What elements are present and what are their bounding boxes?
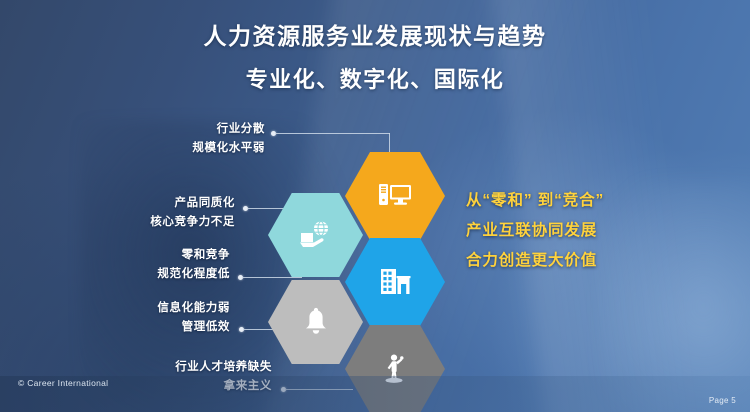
issue-label-industry-fragmentation: 行业分散 规模化水平弱 xyxy=(60,120,265,157)
issue-label-2-line1: 产品同质化 xyxy=(30,194,235,213)
issue-label-product-homogeneity: 产品同质化 核心竞争力不足 xyxy=(30,194,235,231)
hexagon-globe-hand[interactable] xyxy=(268,193,363,277)
hexagon-computer[interactable] xyxy=(345,152,445,240)
issue-label-1-line1: 行业分散 xyxy=(60,120,265,139)
slide-title-sub: 专业化、数字化、国际化 xyxy=(0,64,750,96)
footer-bar xyxy=(0,376,750,412)
slide-title-main: 人力资源服务业发展现状与趋势 xyxy=(0,20,750,53)
issue-label-1-line2: 规模化水平弱 xyxy=(60,139,265,158)
trend-line-3: 合力创造更大价值 xyxy=(466,246,604,276)
issue-label-5-line1: 行业人才培养缺失 xyxy=(60,358,272,377)
hexagon-bell[interactable] xyxy=(268,280,363,364)
office-buildings-icon xyxy=(379,267,411,297)
hexagon-buildings[interactable] xyxy=(345,238,445,326)
connector-line-1-h xyxy=(275,133,390,134)
trend-line-2: 产业互联协同发展 xyxy=(466,216,604,246)
issue-label-zero-sum-competition: 零和竞争 规范化程度低 xyxy=(25,246,230,283)
desktop-computer-icon xyxy=(378,181,412,211)
trend-line-1: 从“零和” 到“竞合” xyxy=(466,186,604,216)
slide-title-block: 人力资源服务业发展现状与趋势 专业化、数字化、国际化 xyxy=(0,20,750,96)
connector-line-3 xyxy=(242,277,302,278)
issue-label-4-line2: 管理低效 xyxy=(25,318,230,337)
issue-label-2-line2: 核心竞争力不足 xyxy=(30,213,235,232)
hand-globe-icon xyxy=(299,220,332,250)
page-number: Page 5 xyxy=(709,396,736,405)
slide-canvas: 人力资源服务业发展现状与趋势 专业化、数字化、国际化 行业分散 规模化水平弱 产… xyxy=(0,0,750,412)
issue-label-weak-informatization: 信息化能力弱 管理低效 xyxy=(25,299,230,336)
copyright-text: © Career International xyxy=(18,378,108,388)
bell-icon xyxy=(301,307,331,337)
trend-statement-block: 从“零和” 到“竞合” 产业互联协同发展 合力创造更大价值 xyxy=(466,186,604,277)
issue-label-4-line1: 信息化能力弱 xyxy=(25,299,230,318)
issue-label-3-line2: 规范化程度低 xyxy=(25,265,230,284)
issue-label-3-line1: 零和竞争 xyxy=(25,246,230,265)
connector-line-1-v xyxy=(389,133,390,155)
